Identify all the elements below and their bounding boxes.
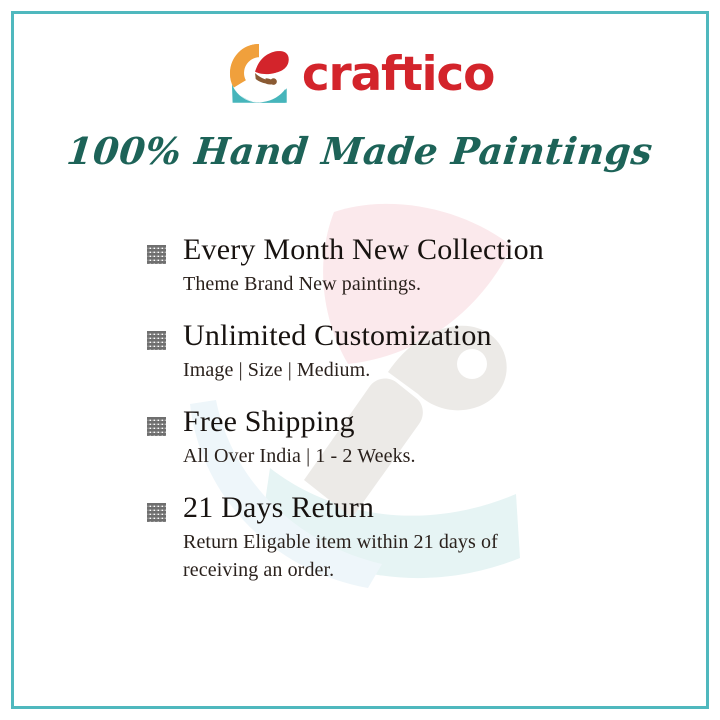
feature-subtitle: Image | Size | Medium.: [183, 356, 616, 384]
feature-title: 21 Days Return: [183, 490, 616, 527]
feature-subtitle: All Over India | 1 - 2 Weeks.: [183, 442, 616, 470]
feature-title: Free Shipping: [183, 404, 616, 441]
feature-list: Every Month New Collection Theme Brand N…: [146, 232, 616, 584]
woven-square-bullet-icon: [146, 330, 167, 351]
feature-subtitle: Return Eligable item within 21 days of r…: [183, 528, 543, 585]
feature-title: Every Month New Collection: [183, 232, 616, 269]
list-item: Free Shipping All Over India | 1 - 2 Wee…: [146, 404, 616, 470]
page-title: 100% Hand Made Paintings: [0, 131, 720, 172]
brand-wordmark: craftico: [302, 51, 494, 98]
craftico-c-paintbrush-logo-icon: [226, 40, 292, 106]
list-item: 21 Days Return Return Eligable item with…: [146, 490, 616, 584]
promo-poster: craftico 100% Hand Made Paintings: [0, 0, 720, 720]
list-item: Unlimited Customization Image | Size | M…: [146, 318, 616, 384]
brand-logo: craftico: [0, 36, 720, 110]
feature-subtitle: Theme Brand New paintings.: [183, 270, 616, 298]
list-item: Every Month New Collection Theme Brand N…: [146, 232, 616, 298]
tagline-text: 100% Hand Made Paintings: [65, 131, 655, 172]
feature-title: Unlimited Customization: [183, 318, 616, 355]
woven-square-bullet-icon: [146, 416, 167, 437]
woven-square-bullet-icon: [146, 244, 167, 265]
woven-square-bullet-icon: [146, 502, 167, 523]
